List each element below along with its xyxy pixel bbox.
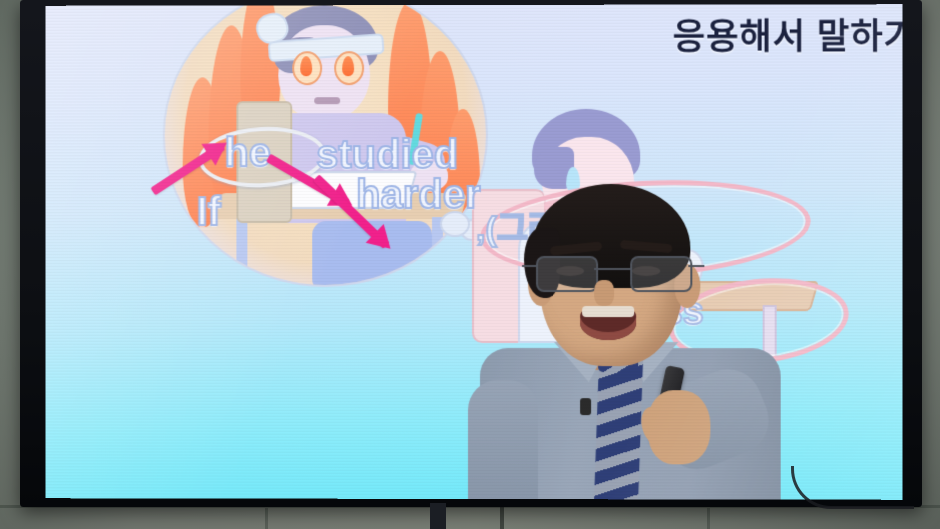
screen-scanlines (45, 4, 902, 500)
television: If he studied harder ,(그러 ld ass am. 응용해… (20, 0, 922, 507)
wall-seam-vertical-3 (500, 505, 504, 529)
tv-screen: If he studied harder ,(그러 ld ass am. 응용해… (45, 4, 902, 500)
screenshot-stage: If he studied harder ,(그러 ld ass am. 응용해… (0, 0, 940, 529)
wall-seam-vertical-4 (707, 508, 710, 529)
wall-seam-vertical-1 (265, 508, 268, 529)
tv-cable (791, 466, 914, 509)
tv-mount-left (430, 503, 446, 529)
